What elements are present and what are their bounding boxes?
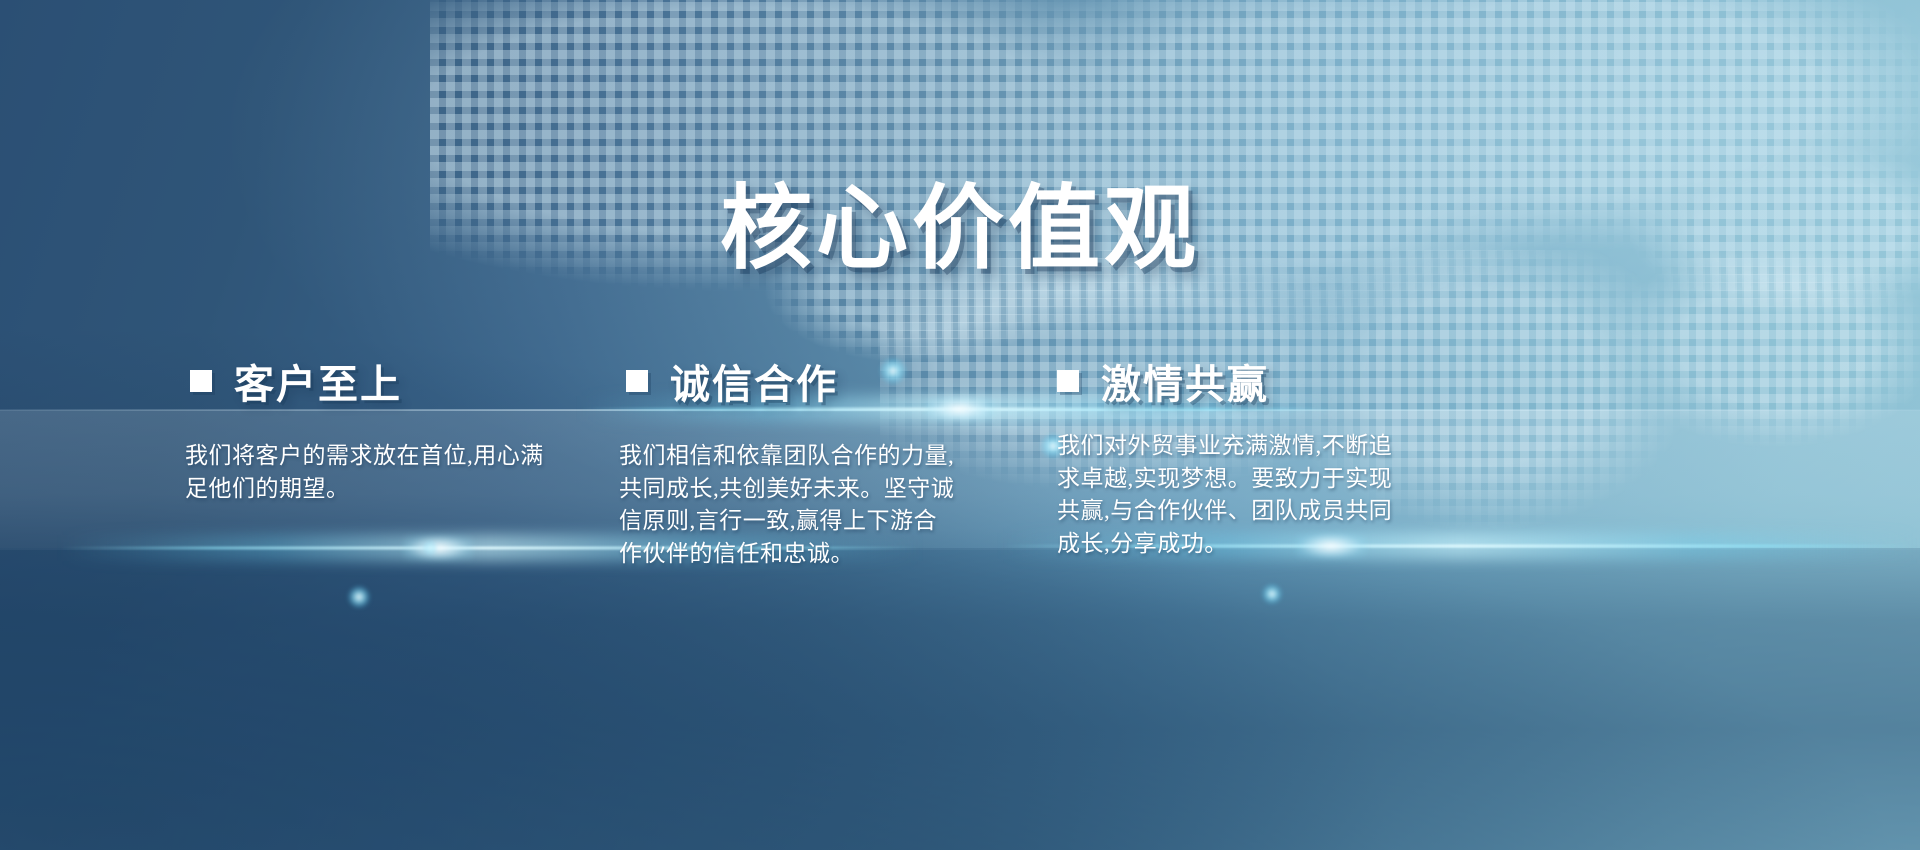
value-heading-3-label: 激情共赢 <box>1101 352 1269 410</box>
value-column-3: 激情共赢 我们对外贸事业充满激情,不断追 求卓越,实现梦想。要致力于实现 共赢,… <box>1057 352 1437 410</box>
value-body-2-line-1: 我们相信和依靠团队合作的力量, <box>619 440 979 473</box>
value-body-3: 我们对外贸事业充满激情,不断追 求卓越,实现梦想。要致力于实现 共赢,与合作伙伴… <box>1057 430 1437 561</box>
value-heading-1-label: 客户至上 <box>234 352 402 410</box>
value-body-2: 我们相信和依靠团队合作的力量, 共同成长,共创美好未来。坚守诚 信原则,言行一致… <box>619 440 979 571</box>
value-body-2-line-3: 信原则,言行一致,赢得上下游合 <box>619 505 979 538</box>
value-column-1: 客户至上 我们将客户的需求放在首位,用心满 足他们的期望。 <box>190 352 550 410</box>
value-body-3-line-1: 我们对外贸事业充满激情,不断追 <box>1057 430 1437 463</box>
value-body-3-line-3: 共赢,与合作伙伴、团队成员共同 <box>1057 495 1437 528</box>
value-body-1-line-1: 我们将客户的需求放在首位,用心满 <box>185 440 545 473</box>
square-bullet-icon <box>1057 370 1079 392</box>
value-body-2-line-2: 共同成长,共创美好未来。坚守诚 <box>619 473 979 506</box>
value-heading-3: 激情共赢 <box>1057 352 1437 410</box>
value-heading-2-label: 诚信合作 <box>670 352 838 410</box>
value-column-2: 诚信合作 我们相信和依靠团队合作的力量, 共同成长,共创美好未来。坚守诚 信原则… <box>626 352 986 410</box>
value-body-1: 我们将客户的需求放在首位,用心满 足他们的期望。 <box>185 440 545 505</box>
value-heading-1: 客户至上 <box>190 352 550 410</box>
slide-canvas: 核心价值观 客户至上 我们将客户的需求放在首位,用心满 足他们的期望。 诚信合作… <box>0 0 1920 850</box>
square-bullet-icon <box>190 370 212 392</box>
value-body-3-line-2: 求卓越,实现梦想。要致力于实现 <box>1057 463 1437 496</box>
value-heading-2: 诚信合作 <box>626 352 986 410</box>
square-bullet-icon <box>626 370 648 392</box>
value-body-3-line-4: 成长,分享成功。 <box>1057 528 1437 561</box>
value-body-2-line-4: 作伙伴的信任和忠诚。 <box>619 538 979 571</box>
value-body-1-line-2: 足他们的期望。 <box>185 473 545 506</box>
values-columns: 客户至上 我们将客户的需求放在首位,用心满 足他们的期望。 诚信合作 我们相信和… <box>0 0 1920 850</box>
